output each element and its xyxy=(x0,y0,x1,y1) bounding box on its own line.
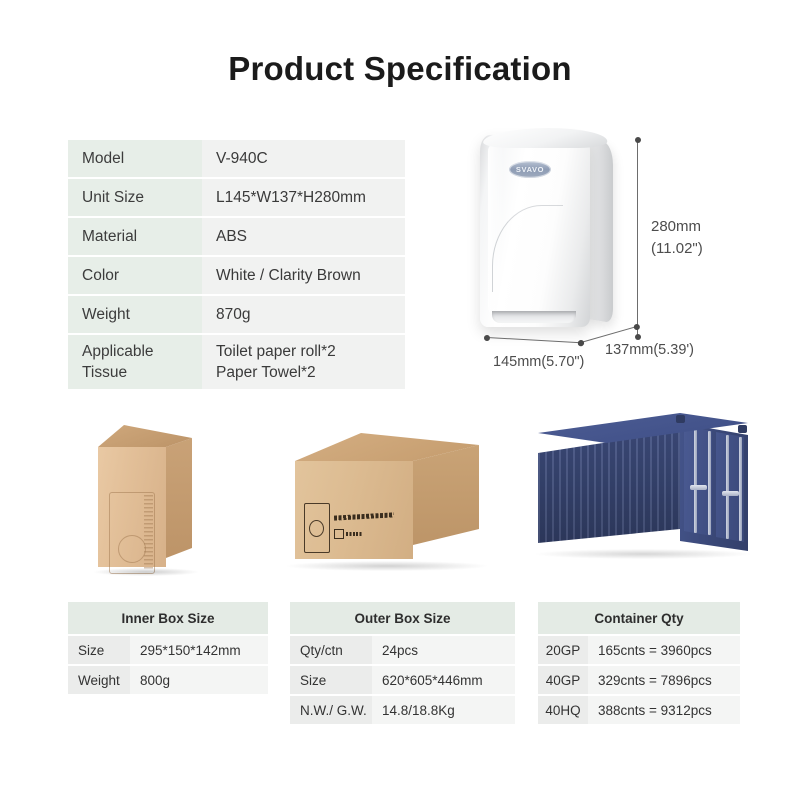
spec-label-applicable-tissue: Applicable Tissue xyxy=(68,334,202,389)
container-value-20gp: 165cnts = 3960pcs xyxy=(588,635,740,665)
table-row: 40HQ 388cnts = 9312pcs xyxy=(538,695,740,724)
inner-box-side xyxy=(166,438,192,558)
container-corner-casting xyxy=(676,415,685,423)
outer-box-checkbox-label-print xyxy=(346,532,362,536)
inner-box-print-dots xyxy=(144,495,153,569)
product-image-zone: SVAVO 280mm (11.02") 145mm(5.70") 137mm(… xyxy=(455,118,785,383)
table-header-row: Container Qty xyxy=(538,602,740,635)
outer-box-label-qty-ctn: Qty/ctn xyxy=(290,635,372,665)
spec-label-color: Color xyxy=(68,256,202,295)
container-corner-casting xyxy=(738,425,747,433)
container-table-header: Container Qty xyxy=(538,602,740,635)
inner-box-shadow xyxy=(94,568,198,576)
container-locking-bar xyxy=(739,437,742,541)
inner-box-table-header: Inner Box Size xyxy=(68,602,268,635)
shipping-container-image xyxy=(538,413,750,563)
container-side-corrugation xyxy=(538,431,680,543)
dispenser-top-lid xyxy=(482,128,610,148)
outer-carton-box-image xyxy=(295,433,485,573)
product-specification-page: Product Specification Model V-940C Unit … xyxy=(0,0,800,800)
table-row: Size 295*150*142mm xyxy=(68,635,268,665)
table-row: Applicable Tissue Toilet paper roll*2 Pa… xyxy=(68,334,405,389)
outer-box-shadow xyxy=(287,561,487,571)
dispenser-front-face: SVAVO xyxy=(480,135,590,327)
value-line-2: Paper Towel*2 xyxy=(216,363,405,384)
page-title: Product Specification xyxy=(0,50,800,88)
table-row: N.W./ G.W. 14.8/18.8Kg xyxy=(290,695,515,724)
container-shadow xyxy=(536,549,750,559)
spec-value-color: White / Clarity Brown xyxy=(202,256,405,295)
height-inches: (11.02") xyxy=(651,238,703,260)
spec-label-material: Material xyxy=(68,217,202,256)
svavo-logo-text: SVAVO xyxy=(516,165,544,174)
outer-box-product-name-print xyxy=(334,512,394,520)
outer-box-checkbox-print xyxy=(334,529,344,539)
specification-table: Model V-940C Unit Size L145*W137*H280mm … xyxy=(68,140,405,389)
spec-label-model: Model xyxy=(68,140,202,178)
table-row: Material ABS xyxy=(68,217,405,256)
spec-value-unit-size: L145*W137*H280mm xyxy=(202,178,405,217)
spec-value-model: V-940C xyxy=(202,140,405,178)
inner-carton-box-image xyxy=(98,425,194,570)
inner-box-front xyxy=(98,447,166,567)
width-dimension-line xyxy=(487,337,581,344)
width-dimension-label: 145mm(5.70") xyxy=(493,354,584,370)
outer-box-table-header: Outer Box Size xyxy=(290,602,515,635)
table-row: Model V-940C xyxy=(68,140,405,178)
height-dimension-label: 280mm (11.02") xyxy=(651,216,703,260)
height-mm: 280mm xyxy=(651,216,703,238)
table-header-row: Outer Box Size xyxy=(290,602,515,635)
spec-value-material: ABS xyxy=(202,217,405,256)
outer-box-front xyxy=(295,461,413,559)
table-header-row: Inner Box Size xyxy=(68,602,268,635)
height-dimension-line xyxy=(637,140,638,337)
inner-box-value-weight: 800g xyxy=(130,665,268,694)
outer-box-value-size: 620*605*446mm xyxy=(372,665,515,695)
dispenser-side-face xyxy=(587,139,613,323)
outer-box-size-table: Outer Box Size Qty/ctn 24pcs Size 620*60… xyxy=(290,602,515,724)
label-line-1: Applicable xyxy=(82,342,202,363)
container-door-handle xyxy=(690,485,707,490)
inner-box-label-size: Size xyxy=(68,635,130,665)
outer-box-label-size: Size xyxy=(290,665,372,695)
spec-value-applicable-tissue: Toilet paper roll*2 Paper Towel*2 xyxy=(202,334,405,389)
inner-box-size-table: Inner Box Size Size 295*150*142mm Weight… xyxy=(68,602,268,694)
depth-dimension-label: 137mm(5.39') xyxy=(605,342,694,358)
dispenser-outlet-slot xyxy=(492,311,576,323)
value-line-1: Toilet paper roll*2 xyxy=(216,342,405,363)
packaging-illustrations xyxy=(0,405,800,585)
container-qty-table: Container Qty 20GP 165cnts = 3960pcs 40G… xyxy=(538,602,740,724)
table-row: Qty/ctn 24pcs xyxy=(290,635,515,665)
inner-box-print-circle xyxy=(118,535,146,563)
outer-box-product-icon xyxy=(304,503,330,553)
outer-box-value-qty-ctn: 24pcs xyxy=(372,635,515,665)
container-label-40gp: 40GP xyxy=(538,665,588,695)
label-line-2: Tissue xyxy=(82,363,202,384)
spec-label-unit-size: Unit Size xyxy=(68,178,202,217)
outer-box-value-nw-gw: 14.8/18.8Kg xyxy=(372,695,515,724)
outer-box-side xyxy=(413,445,479,545)
depth-dimension-line xyxy=(581,326,637,343)
inner-box-value-size: 295*150*142mm xyxy=(130,635,268,665)
container-locking-bar xyxy=(726,435,729,539)
table-row: Weight 800g xyxy=(68,665,268,694)
outer-box-tape-seam xyxy=(319,409,434,437)
container-locking-bar xyxy=(694,429,697,533)
container-label-40hq: 40HQ xyxy=(538,695,588,724)
table-row: 40GP 329cnts = 7896pcs xyxy=(538,665,740,695)
dispenser-product-image: SVAVO xyxy=(480,135,590,327)
spec-label-weight: Weight xyxy=(68,295,202,334)
outer-box-label-nw-gw: N.W./ G.W. xyxy=(290,695,372,724)
table-row: Unit Size L145*W137*H280mm xyxy=(68,178,405,217)
container-value-40gp: 329cnts = 7896pcs xyxy=(588,665,740,695)
table-row: Weight 870g xyxy=(68,295,405,334)
table-row: Color White / Clarity Brown xyxy=(68,256,405,295)
container-value-40hq: 388cnts = 9312pcs xyxy=(588,695,740,724)
table-row: Size 620*605*446mm xyxy=(290,665,515,695)
table-row: 20GP 165cnts = 3960pcs xyxy=(538,635,740,665)
inner-box-label-weight: Weight xyxy=(68,665,130,694)
container-locking-bar xyxy=(708,431,711,535)
svavo-logo: SVAVO xyxy=(509,161,551,178)
container-door-handle xyxy=(722,491,739,496)
spec-value-weight: 870g xyxy=(202,295,405,334)
container-label-20gp: 20GP xyxy=(538,635,588,665)
